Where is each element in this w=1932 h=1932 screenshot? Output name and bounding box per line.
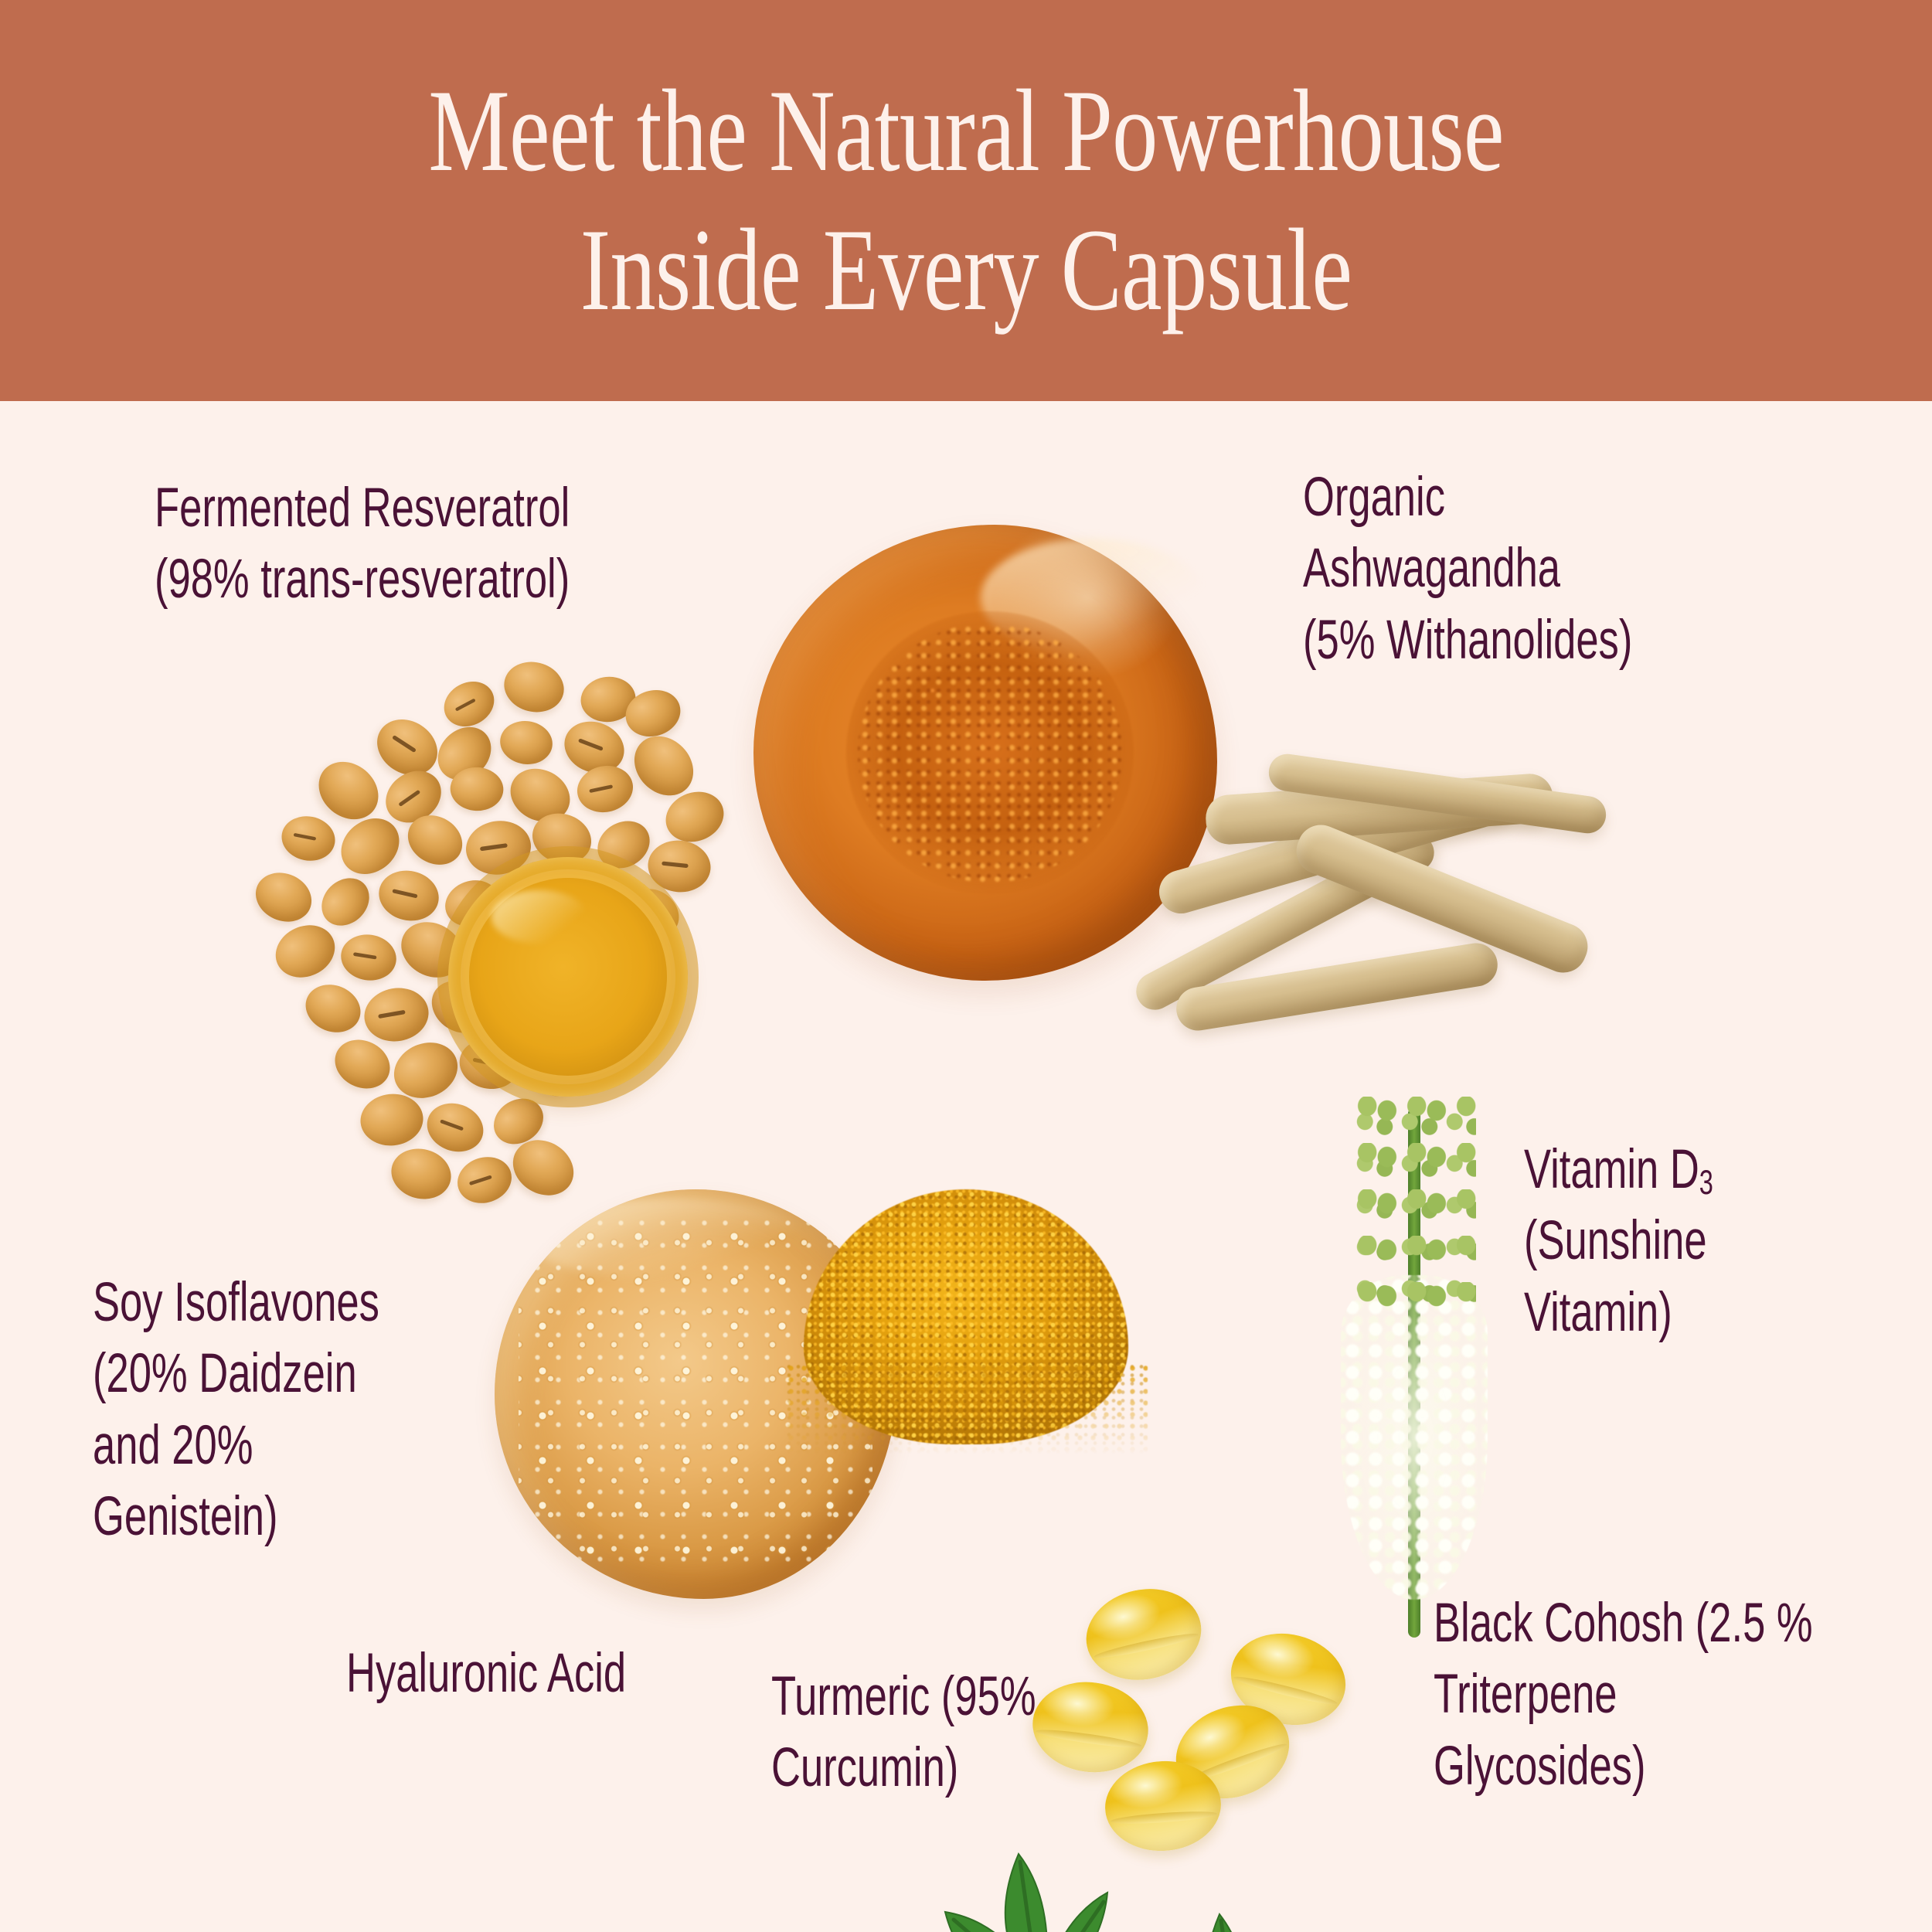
label-fermented-resveratrol: Fermented Resveratrol (98% trans-resvera… xyxy=(155,473,841,616)
flower-buds xyxy=(1352,1097,1476,1313)
soybean xyxy=(358,1091,426,1149)
soybean xyxy=(374,865,444,927)
soybean xyxy=(248,864,319,930)
vitamin-d3-rest: (Sunshine Vitamin) xyxy=(1524,1210,1707,1342)
black-cohosh-flower-image xyxy=(1341,1097,1488,1638)
soybean xyxy=(267,916,344,987)
soybean xyxy=(386,1142,457,1206)
soybean-hilum xyxy=(440,1119,464,1131)
herb-leaf-image xyxy=(1082,1823,1391,1932)
label-turmeric: Turmeric (95% Curcumin) xyxy=(771,1662,1286,1804)
soybean-hilum xyxy=(662,862,688,869)
soybean xyxy=(360,983,433,1046)
soybean-hilum xyxy=(392,735,417,753)
bowl-rim xyxy=(437,846,699,1107)
soybean-hilum xyxy=(294,833,316,841)
soybean-hilum xyxy=(469,1175,492,1186)
soybean-hilum xyxy=(399,790,421,807)
soybean-hilum xyxy=(480,843,508,851)
flower-blossom xyxy=(1341,1275,1488,1600)
powder-edge-scatter xyxy=(784,1362,1148,1454)
soybean xyxy=(338,930,400,984)
soybean-hilum xyxy=(378,1010,405,1019)
vitamin-d3-subscript: 3 xyxy=(1699,1164,1713,1202)
soybean xyxy=(298,977,368,1040)
soybean-hilum xyxy=(589,784,613,793)
oil-highlight xyxy=(492,890,587,943)
label-organic-ashwagandha: Organic Ashwagandha (5% Withanolides) xyxy=(1303,462,1932,676)
label-soy-isoflavones: Soy Isoflavones (20% Daidzein and 20% Ge… xyxy=(93,1267,607,1553)
ingredient-infographic-poster: Meet the Natural Powerhouse Inside Every… xyxy=(0,0,1932,1932)
soybean xyxy=(312,869,379,935)
header-banner: Meet the Natural Powerhouse Inside Every… xyxy=(0,0,1932,401)
resveratrol-powder xyxy=(846,611,1134,894)
soybean-hilum xyxy=(578,738,604,751)
page-title: Meet the Natural Powerhouse Inside Every… xyxy=(309,62,1623,339)
vitamin-d3-text: Vitamin D xyxy=(1524,1139,1699,1200)
soybean-hilum xyxy=(455,699,476,712)
soybean xyxy=(498,718,556,768)
soybean xyxy=(498,656,569,719)
soybean-hilum xyxy=(353,952,376,959)
soybean xyxy=(277,811,338,865)
soybean xyxy=(451,1150,518,1209)
ashwagandha-roots-image xyxy=(1105,710,1584,1143)
label-vitamin-d3: Vitamin D3 (Sunshine Vitamin) xyxy=(1524,1134,1932,1349)
soybean xyxy=(436,673,502,735)
soy-oil-bowl-image xyxy=(448,857,688,1097)
soybean xyxy=(449,766,504,812)
soybean xyxy=(420,1096,490,1159)
soybean-hilum xyxy=(392,889,417,898)
label-black-cohosh: Black Cohosh (2.5 % Triterpene Glycoside… xyxy=(1434,1588,1932,1802)
